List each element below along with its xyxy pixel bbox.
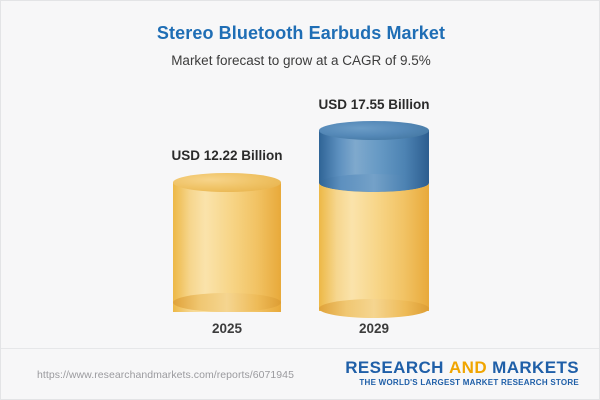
bar-2029-bottom-ellipse [319,299,429,318]
report-url-link[interactable]: https://www.researchandmarkets.com/repor… [37,369,294,381]
research-and-markets-logo[interactable]: RESEARCH AND MARKETS THE WORLD'S LARGEST… [345,358,579,388]
bar-2025[interactable] [173,173,281,318]
logo-tagline: THE WORLD'S LARGEST MARKET RESEARCH STOR… [345,377,579,388]
bar-category-label-2029: 2029 [274,321,474,336]
bar-2029-growth-bottom-ellipse [319,174,429,192]
bar-2029[interactable] [319,121,429,318]
bar-2029-top-ellipse [319,121,429,140]
logo-word-markets: MARKETS [492,358,579,377]
bar-2025-top-ellipse [173,173,281,192]
logo-wordmark: RESEARCH AND MARKETS [345,358,579,377]
chart-footer: https://www.researchandmarkets.com/repor… [1,348,600,400]
bar-2025-bottom-ellipse [173,293,281,312]
bar-value-label-2029: USD 17.55 Billion [274,97,474,112]
plot-area: USD 12.22 Billion 2025 USD 17.55 Billion [1,1,600,348]
logo-word-and: AND [449,358,487,377]
logo-word-research: RESEARCH [345,358,444,377]
bar-value-label-2025: USD 12.22 Billion [127,148,327,163]
bar-2029-base-body [319,183,429,311]
chart-card: Stereo Bluetooth Earbuds Market Market f… [0,0,600,400]
